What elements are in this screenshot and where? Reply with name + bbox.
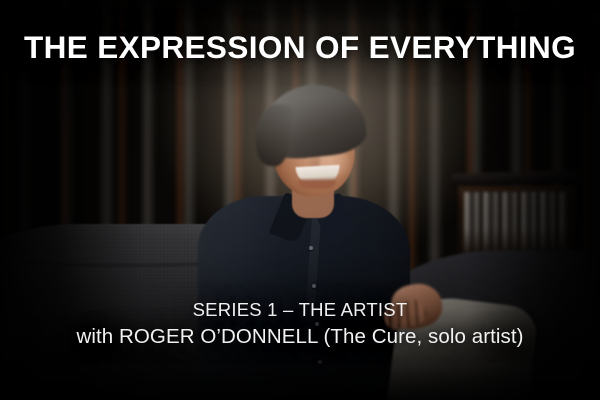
guest-credit-label: with ROGER O’DONNELL (The Cure, solo art… bbox=[0, 324, 600, 351]
series-label: SERIES 1 – THE ARTIST bbox=[0, 299, 600, 321]
headline-title: THE EXPRESSION OF EVERYTHING bbox=[0, 31, 600, 64]
subtitle-block: SERIES 1 – THE ARTIST with ROGER O’DONNE… bbox=[0, 299, 600, 350]
text-overlay: THE EXPRESSION OF EVERYTHING SERIES 1 – … bbox=[0, 0, 600, 400]
promo-card: THE EXPRESSION OF EVERYTHING SERIES 1 – … bbox=[0, 0, 600, 400]
